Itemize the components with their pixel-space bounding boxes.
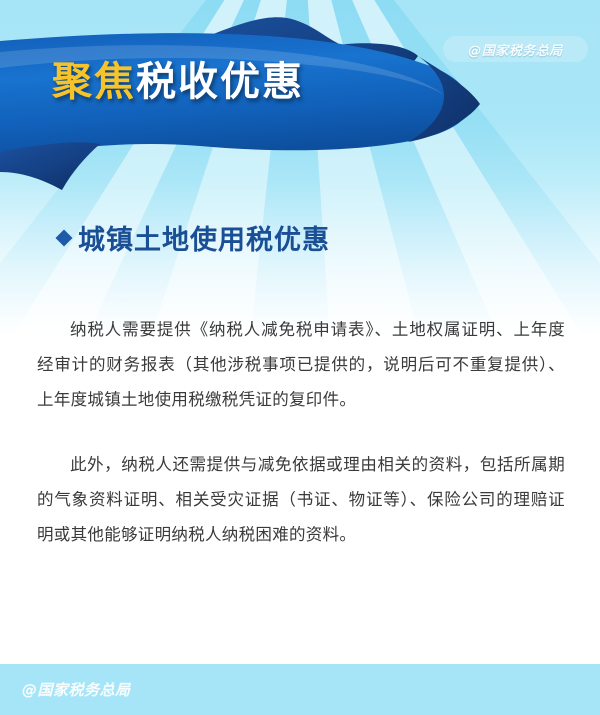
paragraph: 纳税人需要提供《纳税人减免税申请表》、土地权属证明、上年度经审计的财务报表（其他… [37, 312, 565, 417]
ribbon-banner [0, 0, 600, 210]
poster-root: 聚焦税收优惠 @国家税务总局 城镇土地使用税优惠 纳税人需要提供《纳税人减免税申… [0, 0, 600, 715]
body-copy: 纳税人需要提供《纳税人减免税申请表》、土地权属证明、上年度经审计的财务报表（其他… [37, 312, 565, 582]
watermark-top-label: @国家税务总局 [468, 40, 563, 59]
banner-title: 聚焦税收优惠 [52, 62, 304, 102]
section-heading: 城镇土地使用税优惠 [58, 218, 330, 257]
watermark-top: @国家税务总局 [443, 36, 588, 62]
footer-band: @国家税务总局 [0, 664, 600, 715]
section-heading-label: 城镇土地使用税优惠 [78, 218, 330, 257]
watermark-bottom-label: @国家税务总局 [22, 679, 131, 700]
paragraph: 此外，纳税人还需提供与减免依据或理由相关的资料，包括所属期的气象资料证明、相关受… [37, 447, 565, 552]
banner-title-highlight: 聚焦 [52, 58, 136, 105]
diamond-bullet-icon [56, 229, 73, 246]
banner-title-rest: 税收优惠 [136, 58, 304, 105]
